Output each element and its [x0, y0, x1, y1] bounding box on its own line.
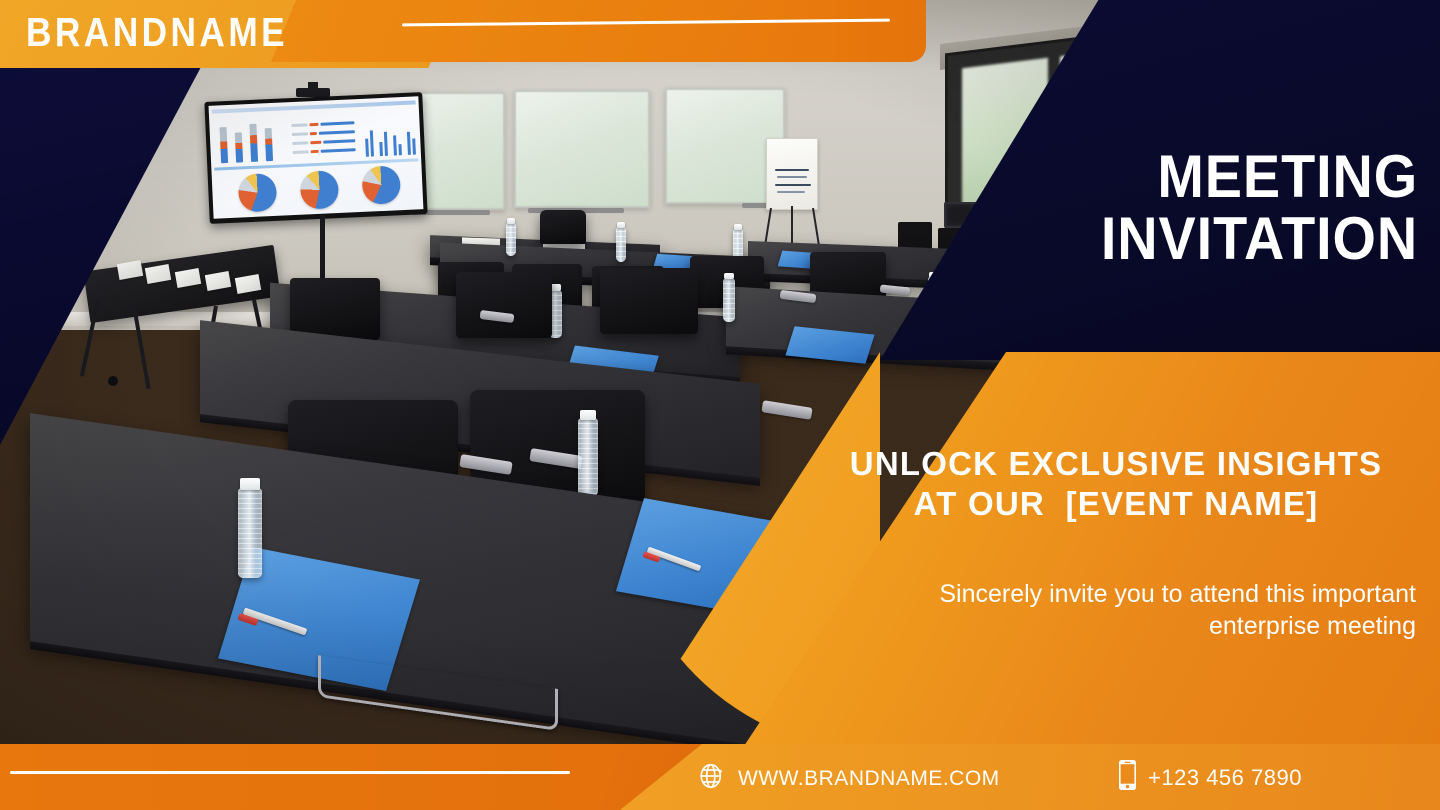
phone-text: +123 456 7890	[1148, 765, 1302, 791]
globe-icon	[697, 761, 727, 796]
title-line-1: MEETING	[1101, 148, 1418, 206]
headline: UNLOCK EXCLUSIVE INSIGHTS AT OUR [EVENT …	[816, 444, 1416, 525]
footer-left-bar	[0, 744, 700, 810]
title-line-2: INVITATION	[1101, 210, 1418, 268]
header-orange-band	[271, 0, 900, 62]
mobile-phone-icon	[1118, 759, 1137, 796]
headline-line-2: AT OUR [EVENT NAME]	[816, 484, 1416, 524]
brand-logo-text: BRANDNAME	[26, 9, 288, 56]
headline-line-1: UNLOCK EXCLUSIVE INSIGHTS	[850, 445, 1382, 482]
website-text: WWW.BRANDNAME.COM	[738, 767, 1000, 791]
subtitle: Sincerely invite you to attend this impo…	[808, 578, 1416, 642]
subtitle-line-1: Sincerely invite you to attend this impo…	[939, 580, 1416, 608]
header-orange-tail	[836, 0, 926, 62]
footer-phone[interactable]: +123 456 7890	[1118, 759, 1302, 796]
subtitle-line-2: enterprise meeting	[808, 610, 1416, 642]
poster-title: MEETING INVITATION	[1077, 148, 1418, 267]
footer-website[interactable]: WWW.BRANDNAME.COM	[697, 761, 1000, 796]
footer-white-rule	[10, 771, 570, 774]
meeting-invitation-poster: BRANDNAME MEETING INVITATION UNLOCK EXCL…	[0, 0, 1440, 810]
